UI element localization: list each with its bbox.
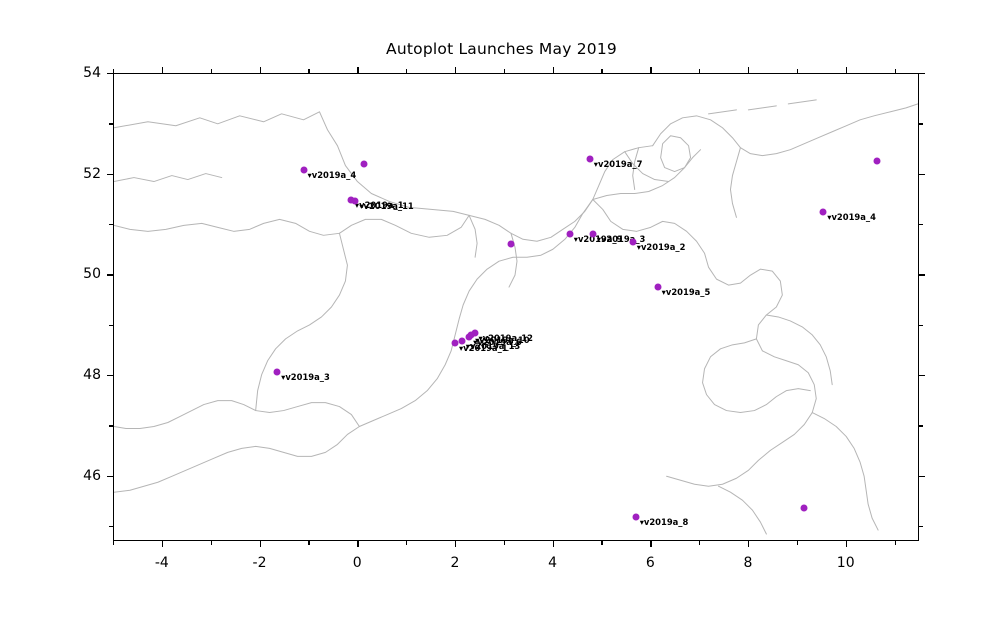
x-tick-minor-top <box>308 69 309 73</box>
y-tick-minor-right <box>919 224 923 225</box>
y-tick <box>107 274 113 275</box>
x-tick-top <box>260 67 261 73</box>
x-tick-minor-top <box>797 69 798 73</box>
x-tick-minor-top <box>601 69 602 73</box>
y-tick-minor <box>109 224 113 225</box>
scatter-point <box>800 504 807 511</box>
y-tick-minor <box>109 425 113 426</box>
x-tick-label: -4 <box>155 555 169 571</box>
x-tick-top <box>846 67 847 73</box>
scatter-point <box>300 167 307 174</box>
x-tick-minor-top <box>895 69 896 73</box>
x-tick <box>748 541 749 547</box>
x-tick-minor-top <box>211 69 212 73</box>
x-tick-minor-top <box>406 69 407 73</box>
scatter-point <box>274 369 281 376</box>
x-tick-minor-top <box>699 69 700 73</box>
y-tick-label: 46 <box>49 468 101 484</box>
x-tick-top <box>357 67 358 73</box>
x-tick <box>846 541 847 547</box>
x-tick <box>162 541 163 547</box>
x-tick-top <box>748 67 749 73</box>
x-tick-minor-top <box>113 69 114 73</box>
scatter-point <box>451 339 458 346</box>
y-tick-minor <box>109 325 113 326</box>
scatter-point <box>586 156 593 163</box>
scatter-point <box>466 333 473 340</box>
y-tick-label: 54 <box>49 65 101 81</box>
x-tick <box>553 541 554 547</box>
y-tick-right <box>919 375 925 376</box>
y-tick-right <box>919 73 925 74</box>
x-tick <box>455 541 456 547</box>
x-tick-label: 0 <box>353 555 362 571</box>
point-label: ▾v2019a_8 <box>640 517 689 527</box>
point-label: ▾v2019a_3 <box>281 372 330 382</box>
point-label: ▾v2019a_5 <box>662 287 711 297</box>
x-tick-minor <box>895 541 896 545</box>
x-tick-label: 6 <box>646 555 655 571</box>
scatter-point <box>507 240 514 247</box>
y-tick-right <box>919 476 925 477</box>
y-tick-minor <box>109 123 113 124</box>
y-tick-minor-right <box>919 123 923 124</box>
scatter-point <box>361 160 368 167</box>
x-tick-minor <box>113 541 114 545</box>
x-tick-top <box>162 67 163 73</box>
x-tick <box>650 541 651 547</box>
y-tick <box>107 375 113 376</box>
x-tick-minor <box>699 541 700 545</box>
x-tick-minor <box>601 541 602 545</box>
y-tick-label: 52 <box>49 166 101 182</box>
x-tick <box>260 541 261 547</box>
point-label: ▾v2019a_4 <box>827 212 876 222</box>
scatter-point <box>632 514 639 521</box>
x-tick-minor <box>504 541 505 545</box>
x-tick <box>357 541 358 547</box>
x-tick-top <box>455 67 456 73</box>
y-tick-right <box>919 274 925 275</box>
scatter-point <box>629 239 636 246</box>
scatter-point <box>589 231 596 238</box>
point-label: ▾v2019a_11 <box>359 201 413 211</box>
scatter-point <box>566 230 573 237</box>
x-tick-top <box>650 67 651 73</box>
y-tick-minor-right <box>919 425 923 426</box>
x-tick-label: 2 <box>450 555 459 571</box>
point-label: ▾v2019a_2 <box>637 242 686 252</box>
point-label: ▾v2019a_4 <box>308 170 357 180</box>
scatter-points-layer: ▾v2019a_4▾v2019a_1▾v2019a_11▾v2019a_7▾v2… <box>114 74 918 540</box>
x-tick-label: 8 <box>744 555 753 571</box>
x-tick-label: 4 <box>548 555 557 571</box>
x-tick-label: 10 <box>837 555 855 571</box>
y-tick-label: 50 <box>49 266 101 282</box>
page-title: Autoplot Launches May 2019 <box>0 40 1003 58</box>
plot-area: ▾v2019a_4▾v2019a_1▾v2019a_11▾v2019a_7▾v2… <box>113 73 919 541</box>
point-label: ▾v2019a_1 <box>459 343 508 353</box>
x-tick-minor <box>211 541 212 545</box>
scatter-point <box>820 208 827 215</box>
y-tick <box>107 174 113 175</box>
y-tick <box>107 73 113 74</box>
y-tick-label: 48 <box>49 367 101 383</box>
scatter-point <box>874 158 881 165</box>
point-label: ▾v2019a_7 <box>594 159 643 169</box>
y-tick-minor-right <box>919 526 923 527</box>
x-tick-minor <box>406 541 407 545</box>
scatter-point <box>352 197 359 204</box>
x-tick-minor <box>308 541 309 545</box>
y-tick-minor-right <box>919 325 923 326</box>
x-tick-minor <box>797 541 798 545</box>
y-tick-minor <box>109 526 113 527</box>
x-tick-minor-top <box>504 69 505 73</box>
y-tick <box>107 476 113 477</box>
figure-canvas: Autoplot Launches May 2019 <box>0 0 1003 633</box>
x-tick-label: -2 <box>253 555 267 571</box>
scatter-point <box>654 283 661 290</box>
x-tick-top <box>553 67 554 73</box>
y-tick-right <box>919 174 925 175</box>
